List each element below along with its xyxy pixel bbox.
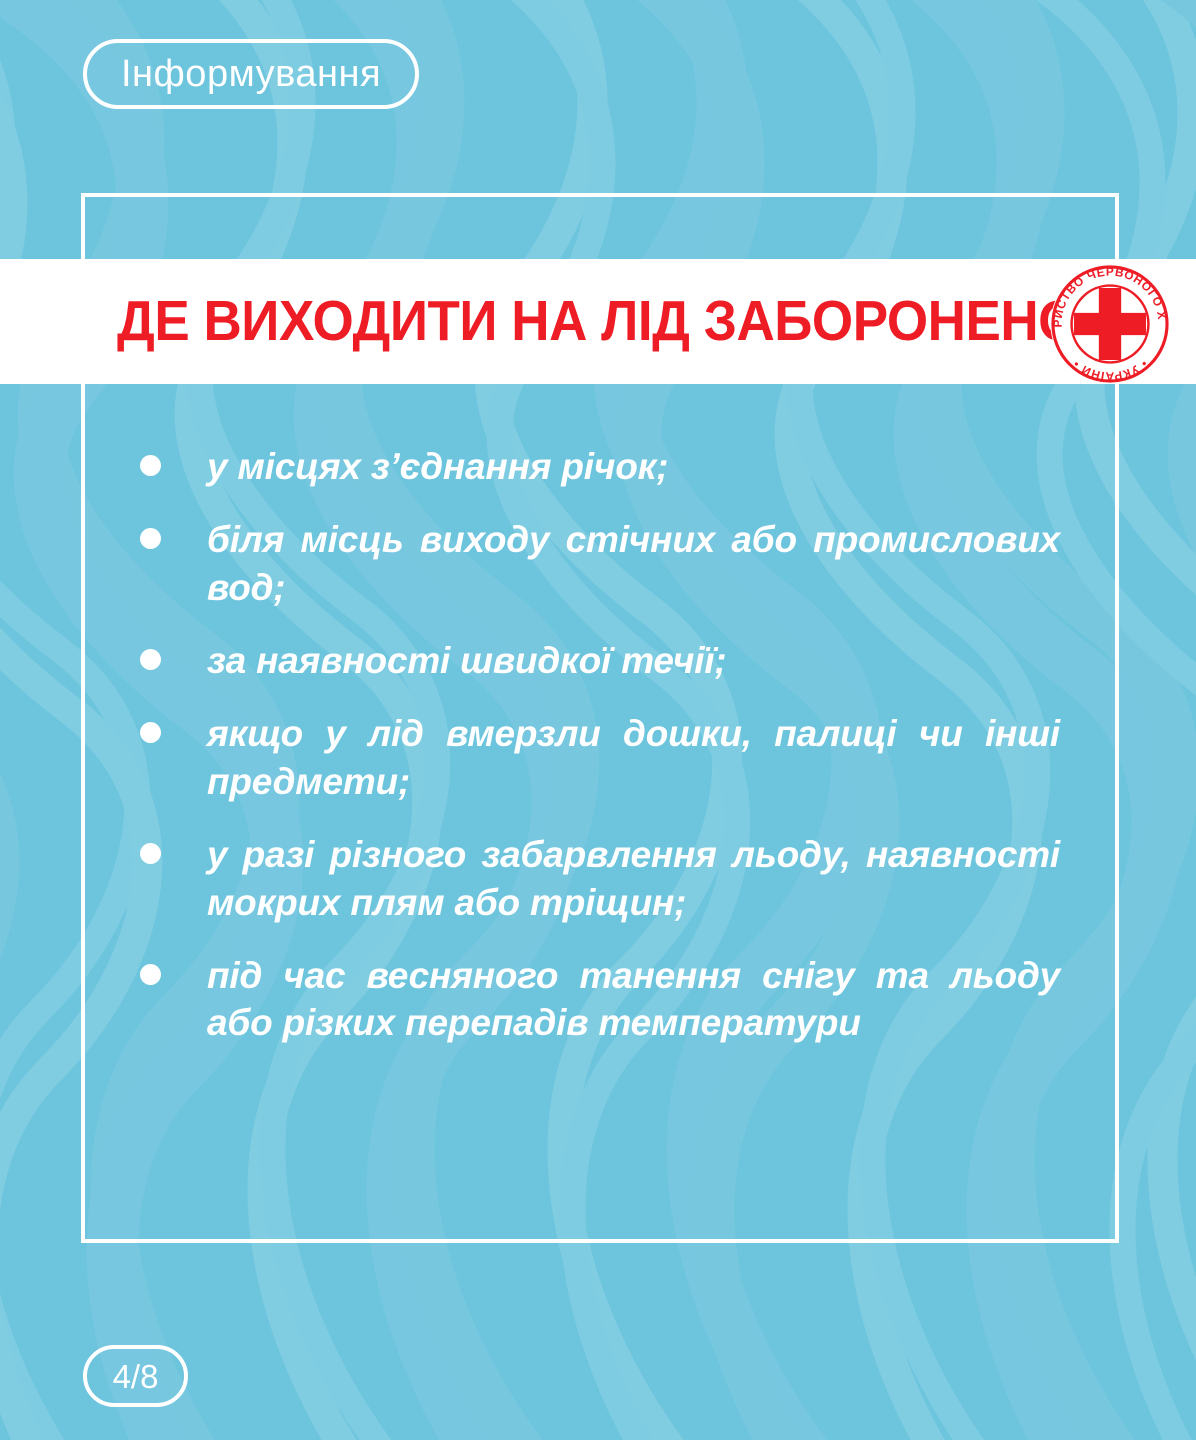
page-indicator-label: 4/8 [113,1360,159,1393]
list-item: якщо у лід вмерзли дошки, палиці чи інші… [140,710,1060,805]
list-item: під час весняного танення снігу та льоду… [140,952,1060,1047]
list-item: біля місць виходу стічних або промислови… [140,516,1060,611]
list-item: у місцях з’єднання річок; [140,443,1060,490]
list-item-text: у місцях з’єднання річок; [207,443,1060,490]
topic-badge: Інформування [83,39,419,109]
list-item-text: під час весняного танення снігу та льоду… [207,952,1060,1047]
bullet-dot-icon [140,528,161,549]
list-item-text: біля місць виходу стічних або промислови… [207,516,1060,611]
page-indicator: 4/8 [83,1345,188,1407]
bullet-dot-icon [140,649,161,670]
list-item-text: за наявності швидкої течії; [207,637,1060,684]
list-item: за наявності швидкої течії; [140,637,1060,684]
list-item-text: якщо у лід вмерзли дошки, палиці чи інші… [207,710,1060,805]
title-band: ДЕ ВИХОДИТИ НА ЛІД ЗАБОРОНЕНО [0,259,1196,384]
topic-badge-label: Інформування [121,55,381,93]
bullet-dot-icon [140,722,161,743]
poster-canvas: Інформування ДЕ ВИХОДИТИ НА ЛІД ЗАБОРОНЕ… [0,0,1196,1440]
rules-list: у місцях з’єднання річок; біля місць вих… [140,443,1060,1047]
bullet-dot-icon [140,964,161,985]
page-title: ДЕ ВИХОДИТИ НА ЛІД ЗАБОРОНЕНО [42,293,1154,350]
list-item-text: у разі різного забарвлення льоду, наявно… [207,831,1060,926]
bullet-dot-icon [140,843,161,864]
list-item: у разі різного забарвлення льоду, наявно… [140,831,1060,926]
red-cross-emblem-icon: ТОВАРИСТВО ЧЕРВОНОГО ХРЕСТА • УКРАЇНИ • [1048,262,1172,386]
bullet-dot-icon [140,455,161,476]
